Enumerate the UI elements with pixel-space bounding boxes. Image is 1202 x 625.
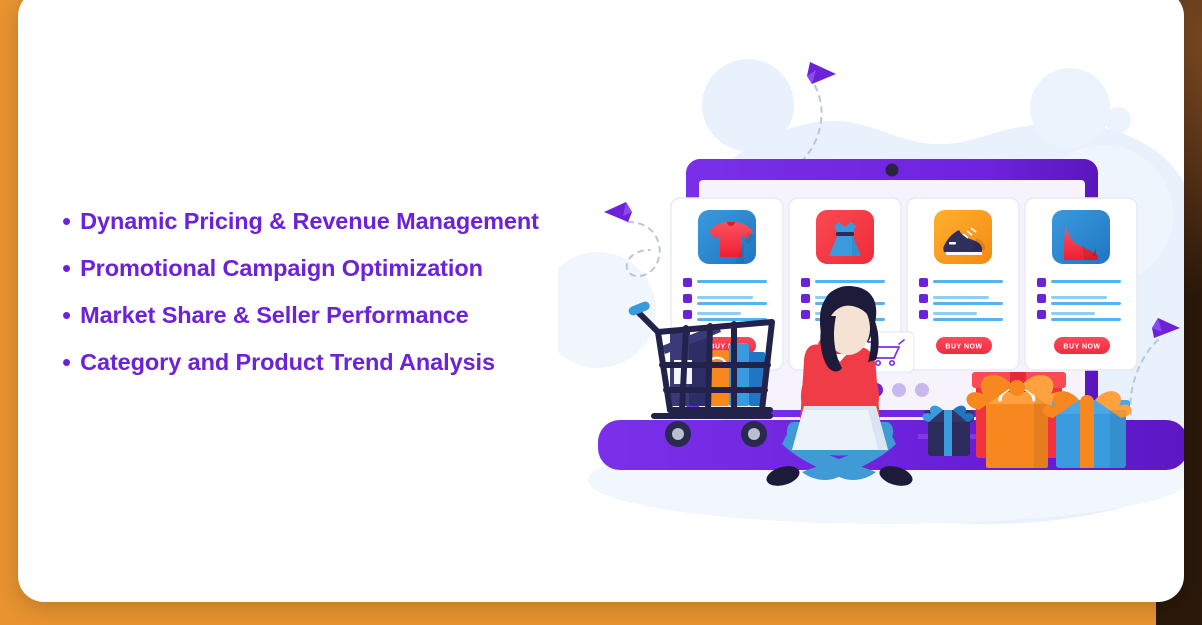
white-content-card: • Dynamic Pricing & Revenue Management •… — [18, 0, 1184, 602]
bullet-label: Dynamic Pricing & Revenue Management — [80, 206, 539, 236]
small-navy-gift-box — [922, 406, 974, 456]
bullet-marker-icon: • — [62, 206, 71, 236]
paper-plane-arrow-top — [807, 62, 836, 84]
feature-bullet-list: • Dynamic Pricing & Revenue Management •… — [62, 206, 602, 394]
svg-text:BUY NOW: BUY NOW — [945, 344, 982, 351]
online-shopping-illustration: BUY NOW — [558, 10, 1184, 570]
bullet-marker-icon: • — [62, 253, 71, 283]
bullet-label: Category and Product Trend Analysis — [80, 347, 495, 377]
pagination-dot — [915, 383, 929, 397]
bullet-marker-icon: • — [62, 300, 71, 330]
pagination-dot — [892, 383, 906, 397]
bullet-label: Market Share & Seller Performance — [80, 300, 469, 330]
webcam-icon — [886, 164, 899, 177]
bullet-label: Promotional Campaign Optimization — [80, 253, 483, 283]
list-item[interactable]: • Market Share & Seller Performance — [62, 300, 602, 330]
slide-canvas: • Dynamic Pricing & Revenue Management •… — [0, 0, 1202, 625]
svg-text:BUY NOW: BUY NOW — [1063, 344, 1100, 351]
list-item[interactable]: • Dynamic Pricing & Revenue Management — [62, 206, 602, 236]
list-item[interactable]: • Promotional Campaign Optimization — [62, 253, 602, 283]
bullet-marker-icon: • — [62, 347, 71, 377]
product-card[interactable]: BUY NOW — [907, 198, 1019, 370]
product-card[interactable]: BUY NOW — [1025, 198, 1137, 370]
paper-plane-arrow-left — [604, 202, 632, 222]
list-item[interactable]: • Category and Product Trend Analysis — [62, 347, 602, 377]
